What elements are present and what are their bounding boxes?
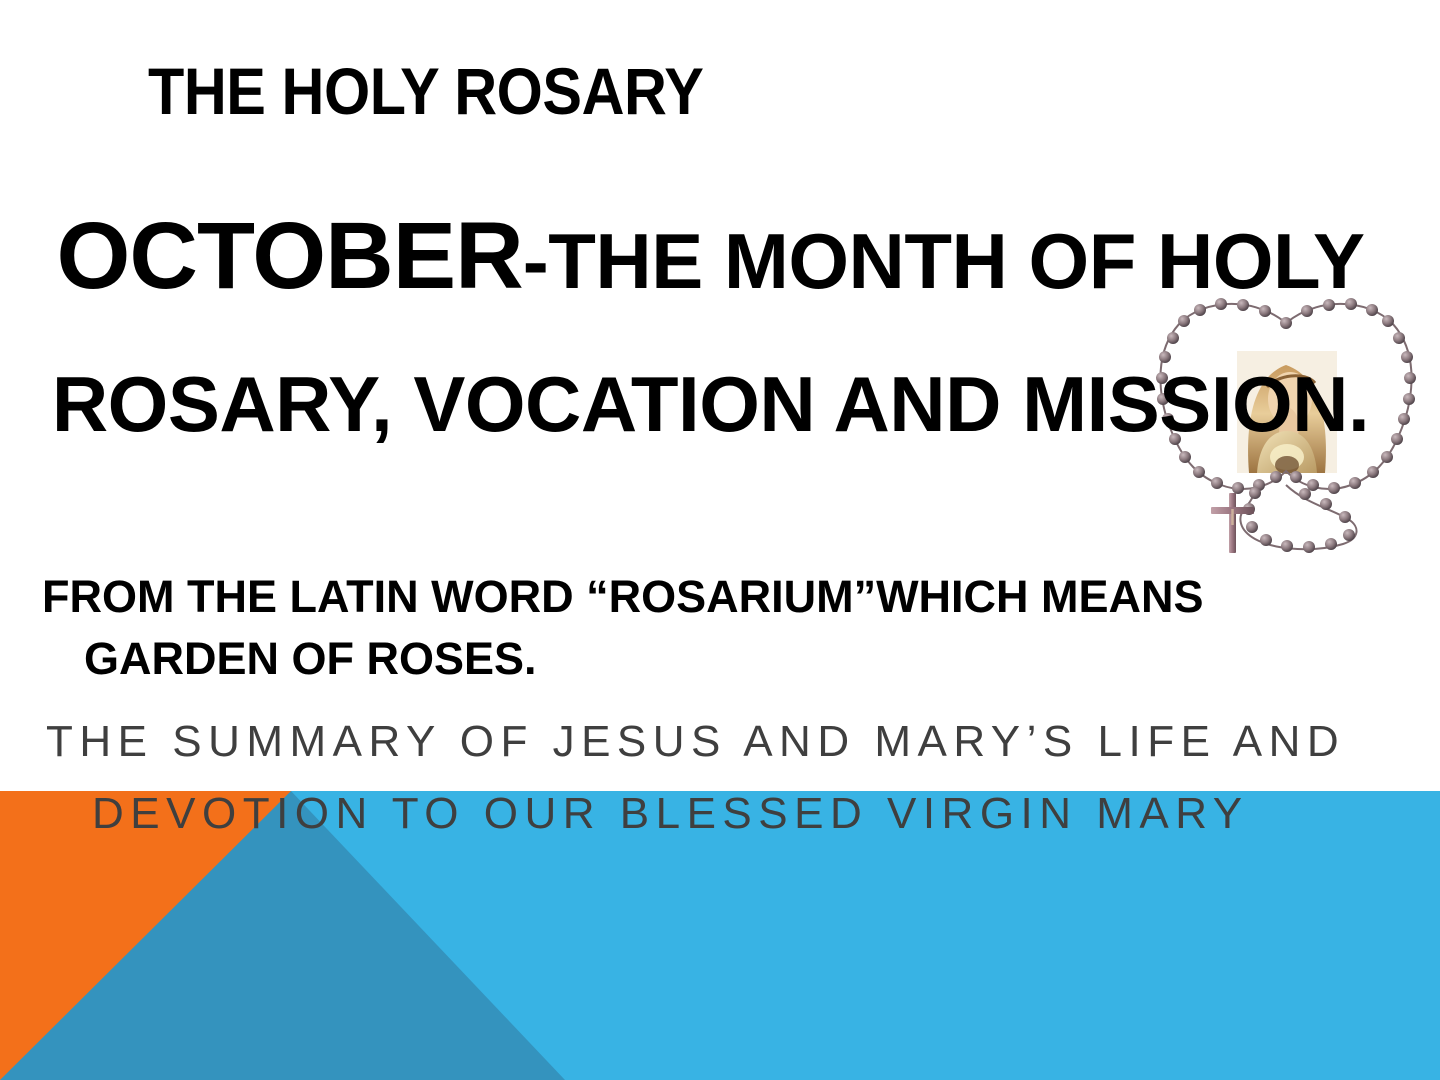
subtitle-paragraph: THE SUMMARY OF JESUS AND MARY’S LIFE AND… bbox=[46, 706, 1432, 850]
presentation-slide: THE HOLY ROSARY OCTOBER-THE MONTH OF HOL… bbox=[0, 0, 1440, 1080]
heading-lead-word: OCTOBER bbox=[56, 203, 522, 309]
body-paragraph: FROM THE LATIN WORD “ROSARIUM”WHICH MEAN… bbox=[42, 566, 1384, 690]
page-title: THE HOLY ROSARY bbox=[148, 52, 1210, 130]
slide-heading: OCTOBER-THE MONTH OF HOLY ROSARY, VOCATI… bbox=[38, 196, 1383, 487]
